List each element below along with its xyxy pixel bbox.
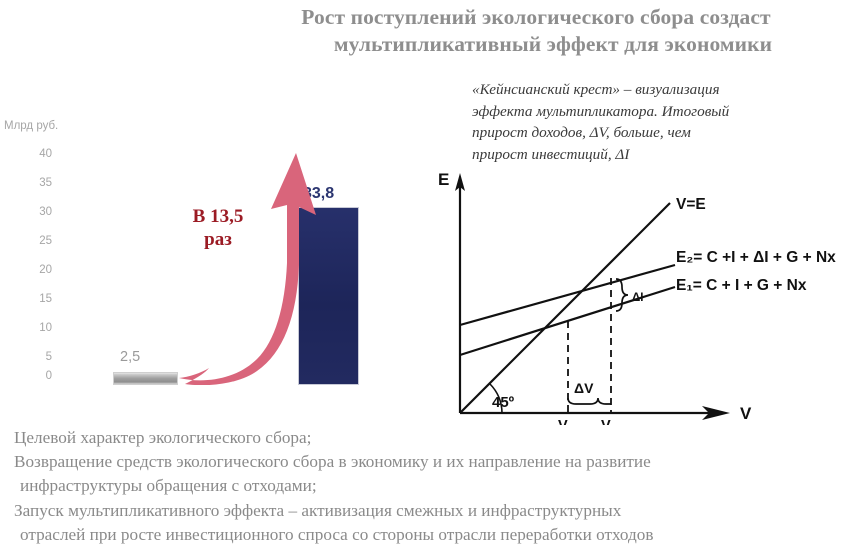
bullet-line-4: Запуск мультипликативного эффекта – акти… — [14, 499, 834, 523]
y-axis-tick-0: 0 — [22, 370, 52, 382]
delta-i-label: ΔI — [632, 292, 643, 304]
identity-line-label: V=E — [676, 196, 706, 213]
growth-annotation-line-1: В 13,5 — [170, 205, 266, 228]
bullet-line-3: инфраструктуры обращения с отходами; — [14, 474, 834, 498]
identity-line — [460, 203, 670, 413]
bullet-line-1: Целевой характер экологического сбора; — [14, 426, 834, 450]
bar-current — [113, 372, 178, 385]
page-title-line-2: мультипликативный эффект для экономики — [232, 31, 840, 58]
keynesian-cross-caption: «Кейнсианский крест» – визуализация эффе… — [472, 79, 824, 165]
page-title: Рост поступлений экологического сбора со… — [232, 4, 840, 58]
y-axis-tick-25: 25 — [22, 235, 52, 247]
delta-v-brace — [568, 398, 611, 404]
y-axis-tick-30: 30 — [22, 206, 52, 218]
delta-v-label: ΔV — [574, 380, 594, 396]
angle-label: 45º — [492, 394, 515, 411]
y-axis-label: Млрд руб. — [4, 120, 58, 132]
y-axis-tick-15: 15 — [22, 293, 52, 305]
e-axis — [455, 173, 465, 413]
bar-value-current: 2,5 — [120, 349, 140, 365]
caption-line-3: прирост доходов, ΔV, больше, чем — [472, 122, 824, 144]
y-axis-tick-5: 5 — [22, 351, 52, 363]
caption-line-2: эффекта мультипликатора. Итоговый — [472, 101, 824, 123]
caption-line-1: «Кейнсианский крест» – визуализация — [472, 79, 824, 101]
y-axis-tick-35: 35 — [22, 177, 52, 189]
v2-tick-label: V₂ — [601, 418, 617, 425]
bar-chart: Млрд руб. 40 35 30 25 20 15 10 5 0 2,5 3… — [0, 110, 420, 395]
curved-up-arrow-icon — [175, 135, 320, 385]
e1-line-label: E₁= C + I + G + Nx — [676, 277, 807, 294]
keynesian-cross-diagram: E V 45º V=E E₂= C +I + ΔI + G + Nx E₁= C… — [430, 165, 842, 425]
growth-annotation: В 13,5 раз — [170, 205, 266, 251]
growth-annotation-line-2: раз — [170, 228, 266, 251]
caption-line-4: прирост инвестиций, ΔI — [472, 144, 824, 166]
v-axis-label: V — [740, 404, 752, 423]
e2-line-label: E₂= C +I + ΔI + G + Nx — [676, 249, 836, 266]
page-title-line-1: Рост поступлений экологического сбора со… — [232, 4, 840, 31]
y-axis-tick-10: 10 — [22, 322, 52, 334]
bullet-list: Целевой характер экологического сбора; В… — [14, 426, 834, 547]
bullet-line-2: Возвращение средств экологического сбора… — [14, 450, 834, 474]
v1-tick-label: V₁ — [558, 418, 574, 425]
bullet-line-5: отраслей при росте инвестиционного спрос… — [14, 523, 834, 547]
y-axis-tick-40: 40 — [22, 148, 52, 160]
y-axis-tick-20: 20 — [22, 264, 52, 276]
e-axis-label: E — [438, 170, 449, 189]
